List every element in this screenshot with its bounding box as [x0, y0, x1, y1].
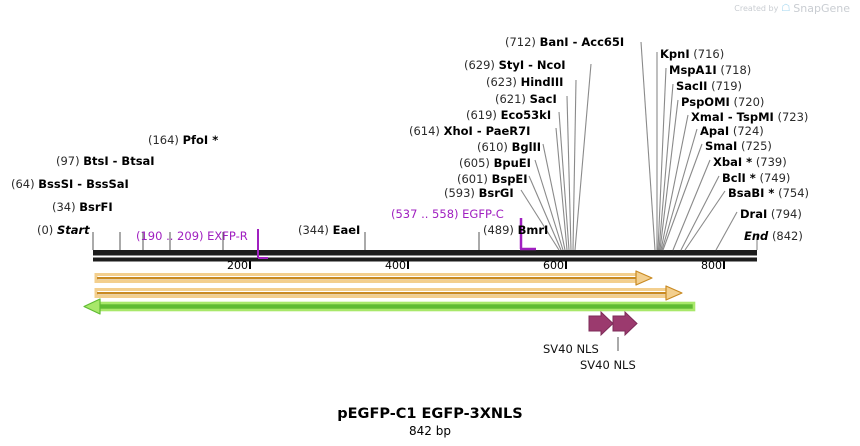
- marker-name: Start: [57, 223, 90, 237]
- enzyme-position: (754): [778, 186, 809, 200]
- enzyme-label-eco53ki[interactable]: (619) Eco53kI: [466, 108, 551, 122]
- sv40-nls-arrow-1[interactable]: [589, 312, 613, 335]
- watermark-brand: SnapGene: [793, 2, 850, 15]
- ruler-tick-label: 400: [385, 259, 406, 272]
- enzyme-label-mspa1i[interactable]: MspA1I (718): [669, 63, 751, 77]
- watermark-created-by: Created by: [734, 4, 778, 13]
- enzyme-position: (794): [771, 207, 802, 221]
- enzyme-position: (719): [711, 79, 742, 93]
- enzyme-label-apai[interactable]: ApaI (724): [700, 124, 764, 138]
- ruler-tick-label: 200: [227, 259, 248, 272]
- enzyme-label-sacii[interactable]: SacII (719): [676, 79, 742, 93]
- enzyme-label-hindiii[interactable]: (623) HindIII: [486, 75, 563, 89]
- ruler-tick-800: 800: [688, 259, 722, 272]
- enzyme-label-pspomi[interactable]: PspOMI (720): [681, 95, 764, 109]
- enzyme-name: PspOMI: [681, 95, 730, 109]
- enzyme-name: PfoI *: [183, 133, 219, 147]
- enzyme-name: BclI *: [722, 171, 756, 185]
- track-green[interactable]: [84, 299, 694, 314]
- enzyme-name: Eco53kI: [501, 108, 552, 122]
- enzyme-label-smai[interactable]: SmaI (725): [705, 139, 772, 153]
- enzyme-position: (97): [56, 154, 80, 168]
- enzyme-position: (724): [733, 124, 764, 138]
- enzyme-position: (629): [464, 58, 495, 72]
- enzyme-name: MspA1I: [669, 63, 717, 77]
- enzyme-name: BspEI: [492, 172, 528, 186]
- enzyme-label-bglii[interactable]: (610) BglII: [477, 140, 541, 154]
- enzyme-label-xhoi[interactable]: (614) XhoI - PaeR7I: [409, 124, 530, 138]
- enzyme-position: (344): [298, 223, 329, 237]
- enzyme-label-xbai[interactable]: XbaI * (739): [713, 155, 787, 169]
- enzyme-position: (725): [741, 139, 772, 153]
- sv40-nls-label-2[interactable]: SV40 NLS: [580, 358, 636, 372]
- enzyme-name: BpuEI: [494, 156, 531, 170]
- enzyme-name: BsrGI: [479, 186, 514, 200]
- enzyme-name: BmrI: [518, 223, 549, 237]
- enzyme-name: SacII: [676, 79, 707, 93]
- marker-position: (0): [37, 223, 53, 237]
- enzyme-name: BanI - Acc65I: [540, 35, 625, 49]
- enzyme-label-styi[interactable]: (629) StyI - NcoI: [464, 58, 566, 72]
- feature-name: EGFP-C: [462, 207, 504, 221]
- enzyme-position: (619): [466, 108, 497, 122]
- enzyme-position: (718): [720, 63, 751, 77]
- marker-label-start[interactable]: (0) Start: [37, 223, 90, 237]
- enzyme-position: (489): [483, 223, 514, 237]
- enzyme-label-bsabi[interactable]: BsaBI * (754): [728, 186, 809, 200]
- sv40-nls-arrow-2[interactable]: [613, 312, 637, 335]
- enzyme-position: (716): [693, 47, 724, 61]
- ruler-tick-600: 600: [530, 259, 564, 272]
- feature-label-egfp-c[interactable]: (537 .. 558) EGFP-C: [391, 207, 504, 221]
- enzyme-position: (593): [444, 186, 475, 200]
- enzyme-name: SmaI: [705, 139, 737, 153]
- enzyme-label-btsi[interactable]: (97) BtsI - BtsaI: [56, 154, 155, 168]
- enzyme-name: BsrFI: [79, 200, 112, 214]
- enzyme-label-bmri[interactable]: (489) BmrI: [483, 223, 548, 237]
- enzyme-position: (605): [459, 156, 490, 170]
- enzyme-name: EaeI: [333, 223, 361, 237]
- enzyme-label-eaei[interactable]: (344) EaeI: [298, 223, 360, 237]
- enzyme-label-pfoi[interactable]: (164) PfoI *: [148, 133, 218, 147]
- enzyme-name: BglII: [512, 140, 542, 154]
- enzyme-position: (749): [759, 171, 790, 185]
- sequence-length-label: 842 bp: [0, 424, 860, 438]
- marker-position: (842): [772, 229, 803, 243]
- enzyme-label-saci[interactable]: (621) SacI: [495, 92, 557, 106]
- enzyme-label-bcli[interactable]: BclI * (749): [722, 171, 790, 185]
- page-title: pEGFP-C1 EGFP-3XNLS: [0, 406, 860, 422]
- sequence-backbone[interactable]: [93, 250, 757, 262]
- enzyme-label-drai[interactable]: DraI (794): [740, 207, 802, 221]
- track-orange-2[interactable]: [96, 286, 682, 300]
- enzyme-label-bani[interactable]: (712) BanI - Acc65I: [505, 35, 624, 49]
- enzyme-label-bsssi[interactable]: (64) BssSI - BssSaI: [11, 177, 129, 191]
- enzyme-label-bpuei[interactable]: (605) BpuEI: [459, 156, 531, 170]
- enzyme-name: KpnI: [660, 47, 690, 61]
- enzyme-label-bspei[interactable]: (601) BspEI: [457, 172, 528, 186]
- enzyme-name: BtsI - BtsaI: [83, 154, 154, 168]
- ruler-tick-label: 800: [701, 259, 722, 272]
- enzyme-name: ApaI: [700, 124, 729, 138]
- enzyme-position: (720): [733, 95, 764, 109]
- enzyme-position: (723): [777, 110, 808, 124]
- enzyme-label-xmai[interactable]: XmaI - TspMI (723): [691, 110, 808, 124]
- enzyme-name: BsaBI *: [728, 186, 774, 200]
- ruler-tick-200: 200: [214, 259, 248, 272]
- enzyme-label-bsrfi[interactable]: (34) BsrFI: [52, 200, 113, 214]
- leader-lines-center: [521, 42, 655, 250]
- enzyme-name: DraI: [740, 207, 767, 221]
- track-orange-1[interactable]: [96, 271, 652, 285]
- ruler-ticks: [250, 261, 724, 269]
- ruler-tick-label: 600: [543, 259, 564, 272]
- enzyme-position: (739): [756, 155, 787, 169]
- feature-name: EXFP-R: [207, 229, 248, 243]
- enzyme-position: (610): [477, 140, 508, 154]
- enzyme-position: (164): [148, 133, 179, 147]
- enzyme-name: SacI: [530, 92, 557, 106]
- enzyme-position: (614): [409, 124, 440, 138]
- enzyme-position: (601): [457, 172, 488, 186]
- enzyme-label-kpni[interactable]: KpnI (716): [660, 47, 724, 61]
- ruler-tick-400: 400: [372, 259, 406, 272]
- enzyme-position: (621): [495, 92, 526, 106]
- enzyme-label-bsrgi[interactable]: (593) BsrGI: [444, 186, 514, 200]
- enzyme-name: BssSI - BssSaI: [38, 177, 129, 191]
- feature-label-exfp-r[interactable]: (190 .. 209) EXFP-R: [136, 229, 248, 243]
- enzyme-position: (712): [505, 35, 536, 49]
- enzyme-name: StyI - NcoI: [499, 58, 566, 72]
- feature-range: (190 .. 209): [136, 229, 204, 243]
- snapgene-watermark: Created by ☖ SnapGene: [734, 2, 850, 15]
- marker-label-end[interactable]: End (842): [744, 229, 803, 243]
- snapgene-leaf-icon: ☖: [781, 3, 790, 14]
- feature-range: (537 .. 558): [391, 207, 459, 221]
- enzyme-name: HindIII: [521, 75, 564, 89]
- enzyme-name: XhoI - PaeR7I: [444, 124, 531, 138]
- enzyme-position: (64): [11, 177, 35, 191]
- enzyme-position: (623): [486, 75, 517, 89]
- enzyme-name: XmaI - TspMI: [691, 110, 774, 124]
- sv40-nls-label-1[interactable]: SV40 NLS: [543, 342, 599, 356]
- enzyme-name: XbaI *: [713, 155, 752, 169]
- enzyme-position: (34): [52, 200, 76, 214]
- marker-name: End: [744, 229, 768, 243]
